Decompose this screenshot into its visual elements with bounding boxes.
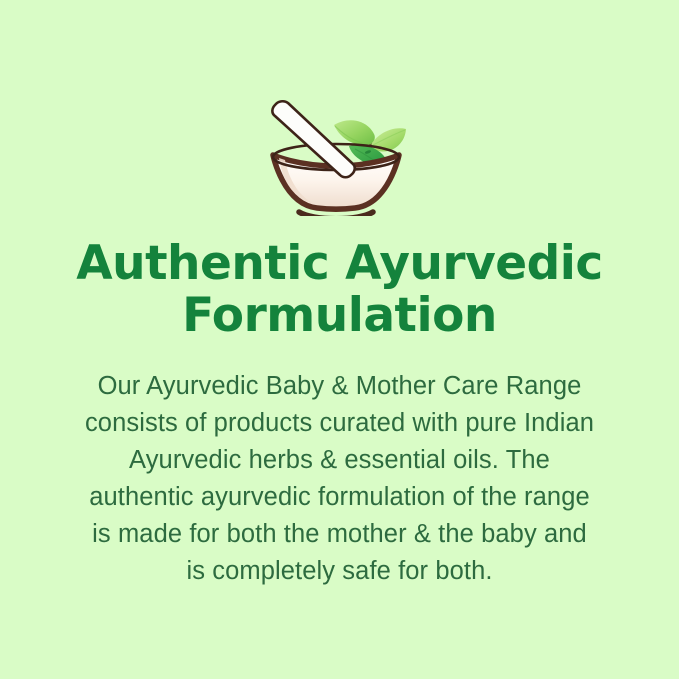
page-title: Authentic Ayurvedic Formulation	[60, 238, 620, 342]
mortar-bowl-with-pestle-and-herb-leaves-icon	[255, 92, 425, 216]
description-line: Ayurvedic herbs & essential oils. The	[60, 442, 620, 479]
page-title-line-1: Authentic Ayurvedic	[60, 238, 620, 290]
description-line: Our Ayurvedic Baby & Mother Care Range	[60, 368, 620, 405]
description-line: authentic ayurvedic formulation of the r…	[60, 479, 620, 516]
page-title-line-2: Formulation	[60, 290, 620, 342]
description-line: consists of products curated with pure I…	[60, 405, 620, 442]
description-line: is made for both the mother & the baby a…	[60, 516, 620, 553]
description-line: is completely safe for both.	[60, 553, 620, 590]
ayurvedic-formulation-card: Authentic Ayurvedic Formulation Our Ayur…	[0, 0, 679, 679]
description-paragraph: Our Ayurvedic Baby & Mother Care Range c…	[60, 368, 620, 590]
